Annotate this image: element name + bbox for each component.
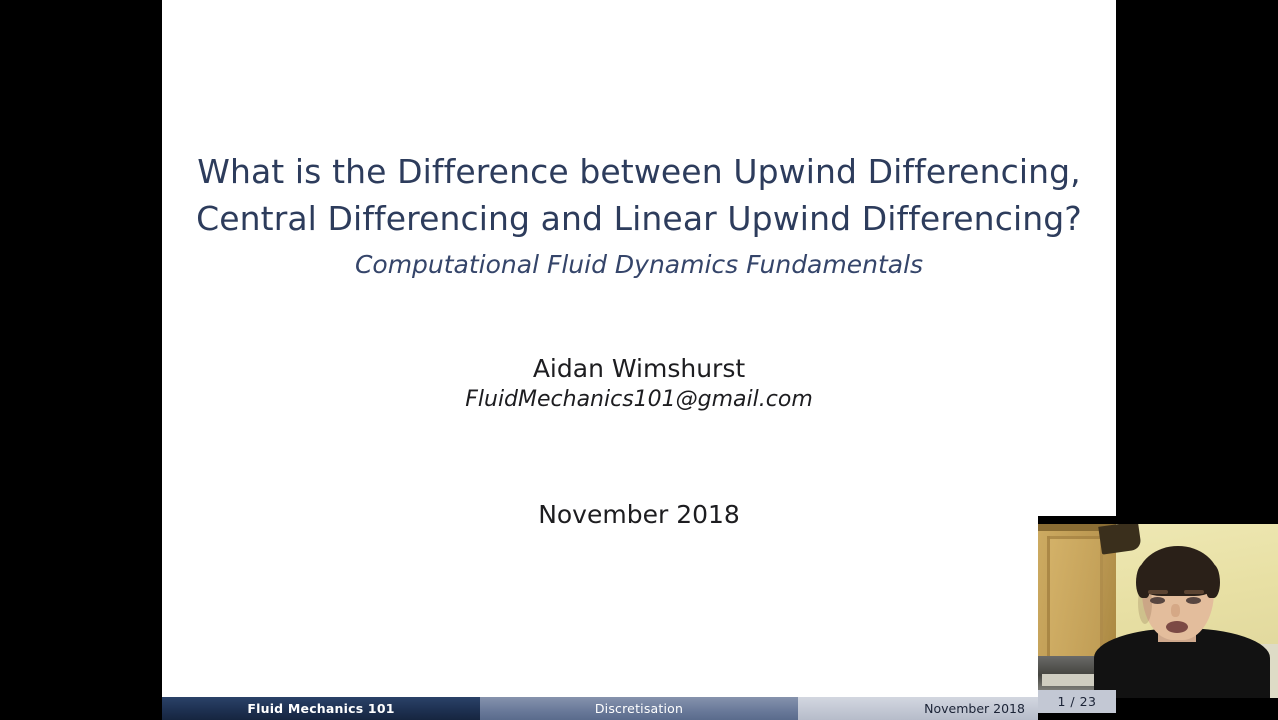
footer-date-label: November 2018 (924, 701, 1025, 716)
webcam-wardrobe-panel (1047, 536, 1103, 668)
webcam-overlay[interactable]: 1 / 23 (1038, 516, 1278, 720)
footer-author-label: Fluid Mechanics 101 (247, 701, 394, 716)
webcam-video-frame (1038, 524, 1278, 698)
webcam-person-hair-right (1206, 564, 1220, 598)
author-name: Aidan Wimshurst (162, 352, 1116, 385)
slide-footer-bar: Fluid Mechanics 101 Discretisation Novem… (162, 697, 1116, 720)
page-title-line-2: Central Differencing and Linear Upwind D… (162, 195, 1116, 242)
webcam-person-mouth (1166, 621, 1188, 633)
webcam-person-eye-right (1186, 597, 1201, 604)
footer-author-segment: Fluid Mechanics 101 (162, 697, 480, 720)
video-player-frame: What is the Difference between Upwind Di… (0, 0, 1278, 720)
webcam-person-eye-left (1150, 597, 1165, 604)
webcam-page-number-chip: 1 / 23 (1038, 690, 1116, 713)
slide-title-block: What is the Difference between Upwind Di… (162, 148, 1116, 280)
page-subtitle: Computational Fluid Dynamics Fundamental… (162, 250, 1116, 280)
webcam-letterbox-top (1038, 516, 1278, 524)
webcam-person-eyebrow-right (1184, 590, 1204, 594)
webcam-person-nose (1171, 604, 1180, 617)
author-email: FluidMechanics101@gmail.com (162, 385, 1116, 415)
author-block: Aidan Wimshurst FluidMechanics101@gmail.… (162, 352, 1116, 415)
presentation-slide: What is the Difference between Upwind Di… (162, 0, 1116, 720)
webcam-person-eyebrow-left (1148, 590, 1168, 594)
slide-date: November 2018 (162, 498, 1116, 531)
footer-section-segment: Discretisation (480, 697, 798, 720)
date-block: November 2018 (162, 498, 1116, 531)
page-title-line-1: What is the Difference between Upwind Di… (162, 148, 1116, 195)
footer-section-label: Discretisation (595, 701, 683, 716)
webcam-desk-papers (1042, 674, 1094, 686)
